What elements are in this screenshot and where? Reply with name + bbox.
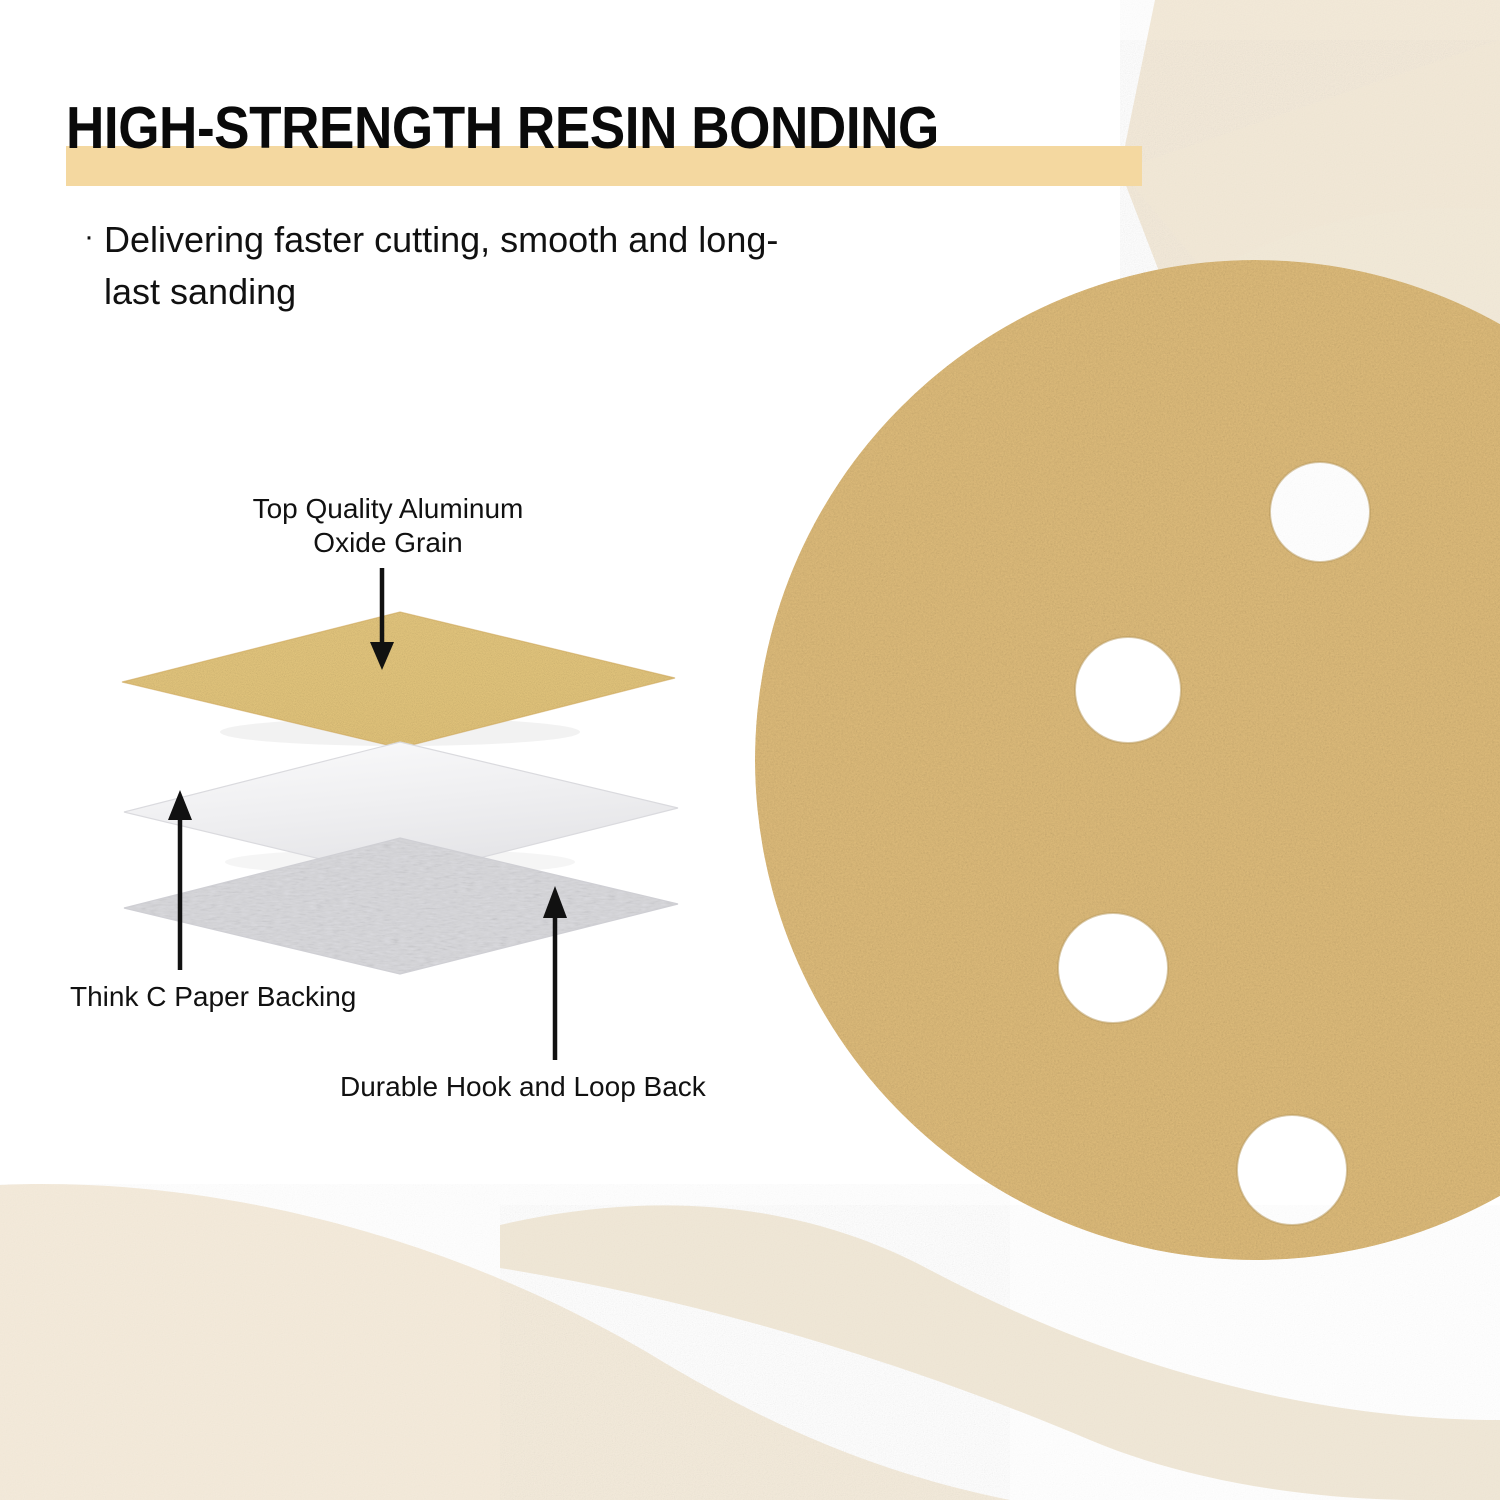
up-arrow-icon-paper	[168, 790, 192, 970]
feature-bullet: · Delivering faster cutting, smooth and …	[84, 214, 784, 318]
up-arrow-icon-hook	[543, 886, 567, 1060]
layer-stack-graphic	[100, 470, 800, 1130]
page-title: HIGH-STRENGTH RESIN BONDING	[66, 96, 1047, 160]
callout-label-paper-backing: Think C Paper Backing	[70, 980, 356, 1014]
aluminum-oxide-grain-layer	[122, 612, 675, 748]
infographic-canvas: HIGH-STRENGTH RESIN BONDING · Delivering…	[0, 0, 1500, 1500]
headline-block: HIGH-STRENGTH RESIN BONDING	[66, 96, 1156, 160]
hook-and-loop-backing-layer	[124, 838, 678, 974]
exploded-layer-diagram: Top Quality Aluminum Oxide Grain Think C…	[100, 470, 800, 1130]
callout-label-hook-and-loop: Durable Hook and Loop Back	[340, 1070, 706, 1104]
feature-bullet-text: Delivering faster cutting, smooth and lo…	[104, 214, 784, 318]
bullet-dot-icon: ·	[84, 214, 94, 318]
callout-label-grain: Top Quality Aluminum Oxide Grain	[218, 492, 558, 560]
